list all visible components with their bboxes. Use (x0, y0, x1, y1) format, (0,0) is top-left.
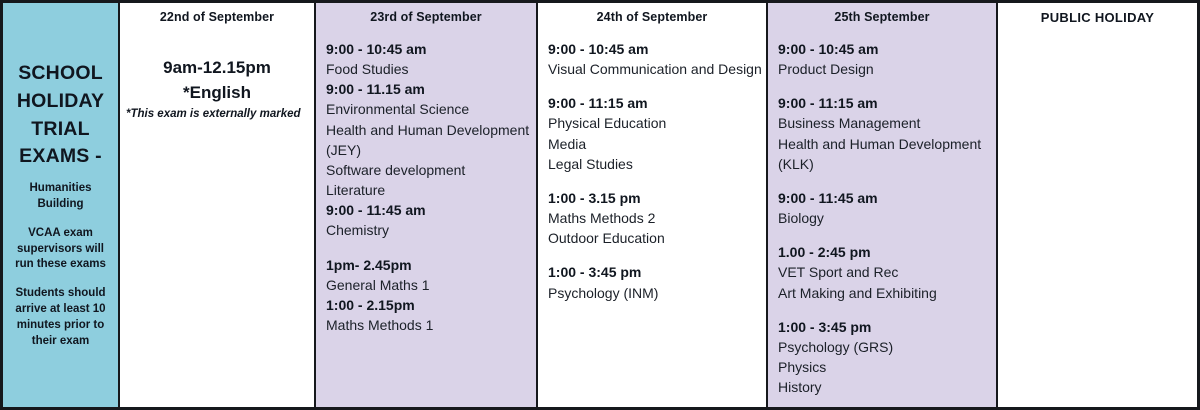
session-block: 1:00 - 3.15 pm Maths Methods 2 Outdoor E… (548, 188, 766, 248)
session-subject: Environmental Science (326, 99, 536, 119)
exam-timetable: SCHOOL HOLIDAY TRIAL EXAMS - Humanities … (0, 0, 1200, 410)
info-note-location: Humanities Building (8, 181, 113, 213)
session-subject: Chemistry (326, 220, 536, 240)
session-subject: Biology (778, 208, 996, 228)
day-header-25th: 25th September (768, 3, 996, 24)
day-header-22nd: 22nd of September (120, 3, 314, 24)
info-title-line-4: EXAMS - (17, 143, 104, 171)
day-column-public-holiday: PUBLIC HOLIDAY (998, 0, 1200, 410)
session-subject: Outdoor Education (548, 228, 766, 248)
info-panel-inner: SCHOOL HOLIDAY TRIAL EXAMS - Humanities … (3, 3, 118, 407)
session-subject: History (778, 377, 996, 397)
day-column-23rd: 23rd of September 9:00 - 10:45 am Food S… (316, 0, 538, 410)
session-subject: Software development (326, 160, 536, 180)
session-subject: Legal Studies (548, 154, 766, 174)
session-block: 1:00 - 3:45 pm Psychology (GRS) Physics … (778, 317, 996, 398)
day-body-25th: 9:00 - 10:45 am Product Design 9:00 - 11… (768, 24, 996, 397)
session-subject: Visual Communication and Design (548, 59, 766, 79)
info-title-line-2: HOLIDAY (17, 88, 104, 116)
session-block: 9:00 - 11:15 am Business Management Heal… (778, 93, 996, 174)
featured-exam-subject: *English (120, 81, 314, 106)
session-block: 9:00 - 11:45 am Biology (778, 188, 996, 228)
info-panel-cell: SCHOOL HOLIDAY TRIAL EXAMS - Humanities … (0, 0, 120, 410)
session-time: 9:00 - 11:45 am (778, 188, 996, 208)
session-time: 9:00 - 11.15 am (326, 79, 536, 99)
session-block: 1:00 - 3:45 pm Psychology (INM) (548, 262, 766, 302)
day-header-24th: 24th of September (538, 3, 766, 24)
info-note-arrival: Students should arrive at least 10 minut… (8, 286, 113, 349)
day-column-22nd: 22nd of September 9am-12.15pm *English *… (120, 0, 316, 410)
session-time: 9:00 - 11:15 am (778, 93, 996, 113)
info-title-line-3: TRIAL (17, 116, 104, 144)
session-subject: Physical Education (548, 113, 766, 133)
session-subject: Health and Human Development (KLK) (778, 134, 996, 174)
day-column-25th: 25th September 9:00 - 10:45 am Product D… (768, 0, 998, 410)
session-time: 1:00 - 3.15 pm (548, 188, 766, 208)
info-title-line-1: SCHOOL (17, 60, 104, 88)
public-holiday-header: PUBLIC HOLIDAY (998, 3, 1197, 25)
session-block: 1pm- 2.45pm General Maths 1 1:00 - 2.15p… (326, 255, 536, 336)
session-block: 9:00 - 10:45 am Visual Communication and… (548, 39, 766, 79)
session-subject: Psychology (INM) (548, 283, 766, 303)
session-block: 9:00 - 11:15 am Physical Education Media… (548, 93, 766, 174)
featured-exam-footnote: *This exam is externally marked (120, 105, 314, 122)
session-time: 9:00 - 10:45 am (326, 39, 536, 59)
info-note-supervisors: VCAA exam supervisors will run these exa… (8, 226, 113, 274)
session-time: 9:00 - 10:45 am (778, 39, 996, 59)
session-subject: Maths Methods 2 (548, 208, 766, 228)
session-subject: Product Design (778, 59, 996, 79)
day-body-24th: 9:00 - 10:45 am Visual Communication and… (538, 24, 766, 303)
session-subject: Literature (326, 180, 536, 200)
day-column-24th: 24th of September 9:00 - 10:45 am Visual… (538, 0, 768, 410)
session-subject: Food Studies (326, 59, 536, 79)
session-block: 9:00 - 10:45 am Product Design (778, 39, 996, 79)
session-subject: General Maths 1 (326, 275, 536, 295)
session-subject: Media (548, 134, 766, 154)
session-subject: Health and Human Development (JEY) (326, 120, 536, 160)
day-body-22nd: 9am-12.15pm *English *This exam is exter… (120, 24, 314, 122)
info-panel-title: SCHOOL HOLIDAY TRIAL EXAMS - (17, 60, 104, 171)
day-body-23rd: 9:00 - 10:45 am Food Studies 9:00 - 11.1… (316, 24, 536, 335)
featured-exam-time: 9am-12.15pm (120, 56, 314, 81)
session-time: 9:00 - 11:45 am (326, 200, 536, 220)
session-subject: Physics (778, 357, 996, 377)
session-subject: VET Sport and Rec (778, 262, 996, 282)
session-time: 9:00 - 11:15 am (548, 93, 766, 113)
session-time: 1pm- 2.45pm (326, 255, 536, 275)
session-block: 1.00 - 2:45 pm VET Sport and Rec Art Mak… (778, 242, 996, 302)
session-subject: Psychology (GRS) (778, 337, 996, 357)
session-block: 9:00 - 10:45 am Food Studies 9:00 - 11.1… (326, 39, 536, 241)
session-time: 1:00 - 3:45 pm (548, 262, 766, 282)
session-subject: Business Management (778, 113, 996, 133)
session-time: 9:00 - 10:45 am (548, 39, 766, 59)
session-subject: Art Making and Exhibiting (778, 283, 996, 303)
session-time: 1.00 - 2:45 pm (778, 242, 996, 262)
session-subject: Maths Methods 1 (326, 315, 536, 335)
session-time: 1:00 - 3:45 pm (778, 317, 996, 337)
session-time: 1:00 - 2.15pm (326, 295, 536, 315)
day-header-23rd: 23rd of September (316, 3, 536, 24)
